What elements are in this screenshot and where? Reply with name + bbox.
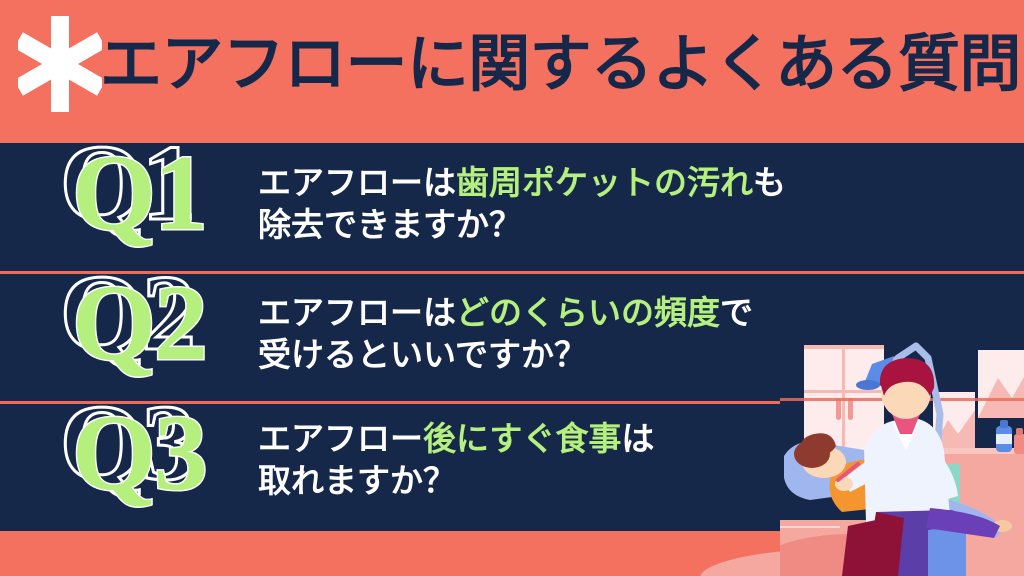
q2-line-2: 受けるといいですか？: [258, 334, 1024, 376]
question-text-q3: エアフロー後にすぐ食事は 取れますか？: [220, 378, 1024, 502]
q3-number-top: Q3: [72, 400, 206, 508]
q3-line-2: 取れますか？: [258, 460, 1024, 502]
q3-l2-seg-0: 取れますか？: [258, 462, 456, 499]
q2-l1-seg-1: どのくらいの頻度: [456, 294, 720, 331]
page-title: エアフローに関するよくある質問: [100, 16, 990, 114]
question-text-q2: エアフローはどのくらいの頻度で 受けるといいですか？: [220, 248, 1024, 376]
q1-l2-seg-0: 除去できますか？: [258, 206, 522, 243]
q1-l1-seg-2: も: [753, 164, 786, 201]
q3-l1-seg-0: エアフロー: [258, 420, 423, 457]
faq-row-2: Q2 Q2 Q2 エアフローはどのくらいの頻度で 受けるといいですか？: [0, 248, 1024, 378]
q2-l2-seg-0: 受けるといいですか？: [258, 336, 587, 373]
q2-line-1: エアフローはどのくらいの頻度で: [258, 292, 1024, 334]
q2-l1-seg-0: エアフローは: [258, 294, 456, 331]
q3-l1-seg-2: は: [621, 420, 654, 457]
faq-row-3: Q3 Q3 Q3 エアフロー後にすぐ食事は 取れますか？: [0, 378, 1024, 508]
asterisk-icon: [18, 16, 102, 112]
q1-l1-seg-1: 歯周ポケットの汚れ: [456, 164, 753, 201]
q2-l1-seg-2: で: [720, 294, 753, 331]
question-number-q2: Q2 Q2 Q2: [0, 248, 220, 378]
q1-l1-seg-0: エアフローは: [258, 164, 456, 201]
q3-line-1: エアフロー後にすぐ食事は: [258, 418, 1024, 460]
q3-l1-seg-1: 後にすぐ食事: [423, 420, 621, 457]
q2-number-top: Q2: [72, 270, 206, 378]
q1-number-top: Q1: [72, 140, 206, 248]
question-number-q3: Q3 Q3 Q3: [0, 378, 220, 508]
faq-slide: エアフローに関するよくある質問: [0, 0, 1024, 576]
q1-line-2: 除去できますか？: [258, 204, 1024, 246]
faq-row-1: Q1 Q1 Q1 エアフローは歯周ポケットの汚れも 除去できますか？: [0, 118, 1024, 248]
question-text-q1: エアフローは歯周ポケットの汚れも 除去できますか？: [220, 118, 1024, 246]
question-number-q1: Q1 Q1 Q1: [0, 118, 220, 248]
q1-line-1: エアフローは歯周ポケットの汚れも: [258, 162, 1024, 204]
